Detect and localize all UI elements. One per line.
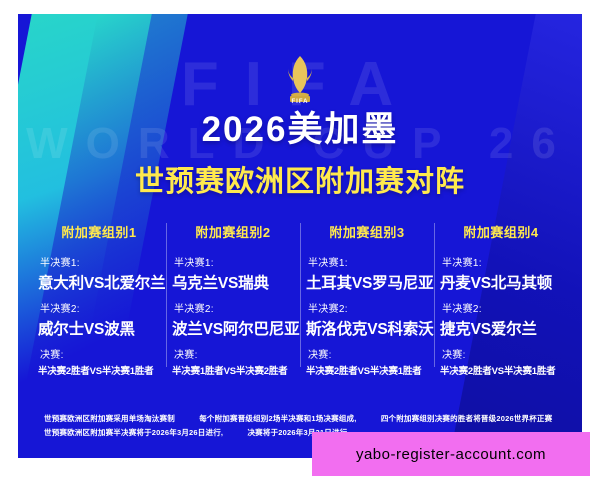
group-header: 附加赛组别3	[306, 217, 428, 247]
footnote-1-1: 世预赛欧洲区附加赛采用单场淘汰赛制	[44, 412, 175, 426]
poster-canvas: FIFA WORLD CUP 26 FIFA 2026美加墨 世预赛欧洲区附加赛…	[18, 14, 582, 458]
page-subtitle: 世预赛欧洲区附加赛对阵	[18, 158, 582, 200]
group-header: 附加赛组别4	[440, 217, 562, 247]
footnote-1-2: 每个附加赛晋级组别2场半决赛和1场决赛组成,	[199, 412, 356, 426]
semifinal-1-label: 半决赛1:	[174, 254, 294, 269]
watermark-stamp: yabo-register-account.com	[312, 432, 590, 476]
footnote-2-1: 世预赛欧洲区附加赛半决赛将于2026年3月26日进行,	[44, 426, 223, 440]
page-title: 2026美加墨	[18, 110, 582, 150]
semifinal-1-match: 意大利VS北爱尔兰	[38, 271, 160, 293]
final-label: 决赛:	[174, 346, 294, 361]
final-match: 半决赛2胜者VS半决赛1胜者	[306, 363, 428, 377]
semifinal-1-match: 土耳其VS罗马尼亚	[306, 271, 428, 293]
semifinal-1-label: 半决赛1:	[40, 254, 160, 269]
group-header: 附加赛组别2	[172, 217, 294, 247]
group-column-2: 附加赛组别2 半决赛1: 乌克兰VS瑞典 半决赛2: 波兰VS阿尔巴尼亚 决赛:…	[166, 217, 300, 377]
footnote-1-3: 四个附加赛组别决赛的胜者将晋级2026世界杯正赛	[381, 412, 552, 426]
semifinal-1-match: 乌克兰VS瑞典	[172, 271, 294, 293]
footnote-row-1: 世预赛欧洲区附加赛采用单场淘汰赛制 每个附加赛晋级组别2场半决赛和1场决赛组成,…	[44, 412, 564, 426]
stamp-text: yabo-register-account.com	[356, 446, 546, 463]
poster-root: FIFA WORLD CUP 26 FIFA 2026美加墨 世预赛欧洲区附加赛…	[0, 0, 600, 480]
group-column-1: 附加赛组别1 半决赛1: 意大利VS北爱尔兰 半决赛2: 威尔士VS波黑 决赛:…	[32, 217, 166, 377]
final-match: 半决赛1胜者VS半决赛2胜者	[172, 363, 294, 377]
semifinal-2-label: 半决赛2:	[442, 300, 562, 315]
world-cup-trophy-icon: FIFA	[277, 52, 323, 106]
semifinal-1-label: 半决赛1:	[442, 254, 562, 269]
semifinal-1-label: 半决赛1:	[308, 254, 428, 269]
semifinal-2-label: 半决赛2:	[308, 300, 428, 315]
trophy-svg	[277, 52, 323, 106]
final-label: 决赛:	[308, 346, 428, 361]
group-column-3: 附加赛组别3 半决赛1: 土耳其VS罗马尼亚 半决赛2: 斯洛伐克VS科索沃 决…	[300, 217, 434, 377]
final-match: 半决赛2胜者VS半决赛1胜者	[38, 363, 160, 377]
semifinal-2-label: 半决赛2:	[174, 300, 294, 315]
semifinal-2-match: 威尔士VS波黑	[38, 317, 160, 339]
semifinal-1-match: 丹麦VS北马其顿	[440, 271, 562, 293]
group-header: 附加赛组别1	[38, 217, 160, 247]
final-label: 决赛:	[40, 346, 160, 361]
semifinal-2-label: 半决赛2:	[40, 300, 160, 315]
fifa-emblem-label: FIFA	[277, 99, 323, 105]
group-column-4: 附加赛组别4 半决赛1: 丹麦VS北马其顿 半决赛2: 捷克VS爱尔兰 决赛: …	[434, 217, 568, 377]
groups-container: 附加赛组别1 半决赛1: 意大利VS北爱尔兰 半决赛2: 威尔士VS波黑 决赛:…	[32, 217, 568, 377]
semifinal-2-match: 捷克VS爱尔兰	[440, 317, 562, 339]
semifinal-2-match: 斯洛伐克VS科索沃	[306, 317, 428, 339]
final-match: 半决赛2胜者VS半决赛1胜者	[440, 363, 562, 377]
title-block: 2026美加墨 世预赛欧洲区附加赛对阵	[18, 110, 582, 200]
semifinal-2-match: 波兰VS阿尔巴尼亚	[172, 317, 294, 339]
final-label: 决赛:	[442, 346, 562, 361]
